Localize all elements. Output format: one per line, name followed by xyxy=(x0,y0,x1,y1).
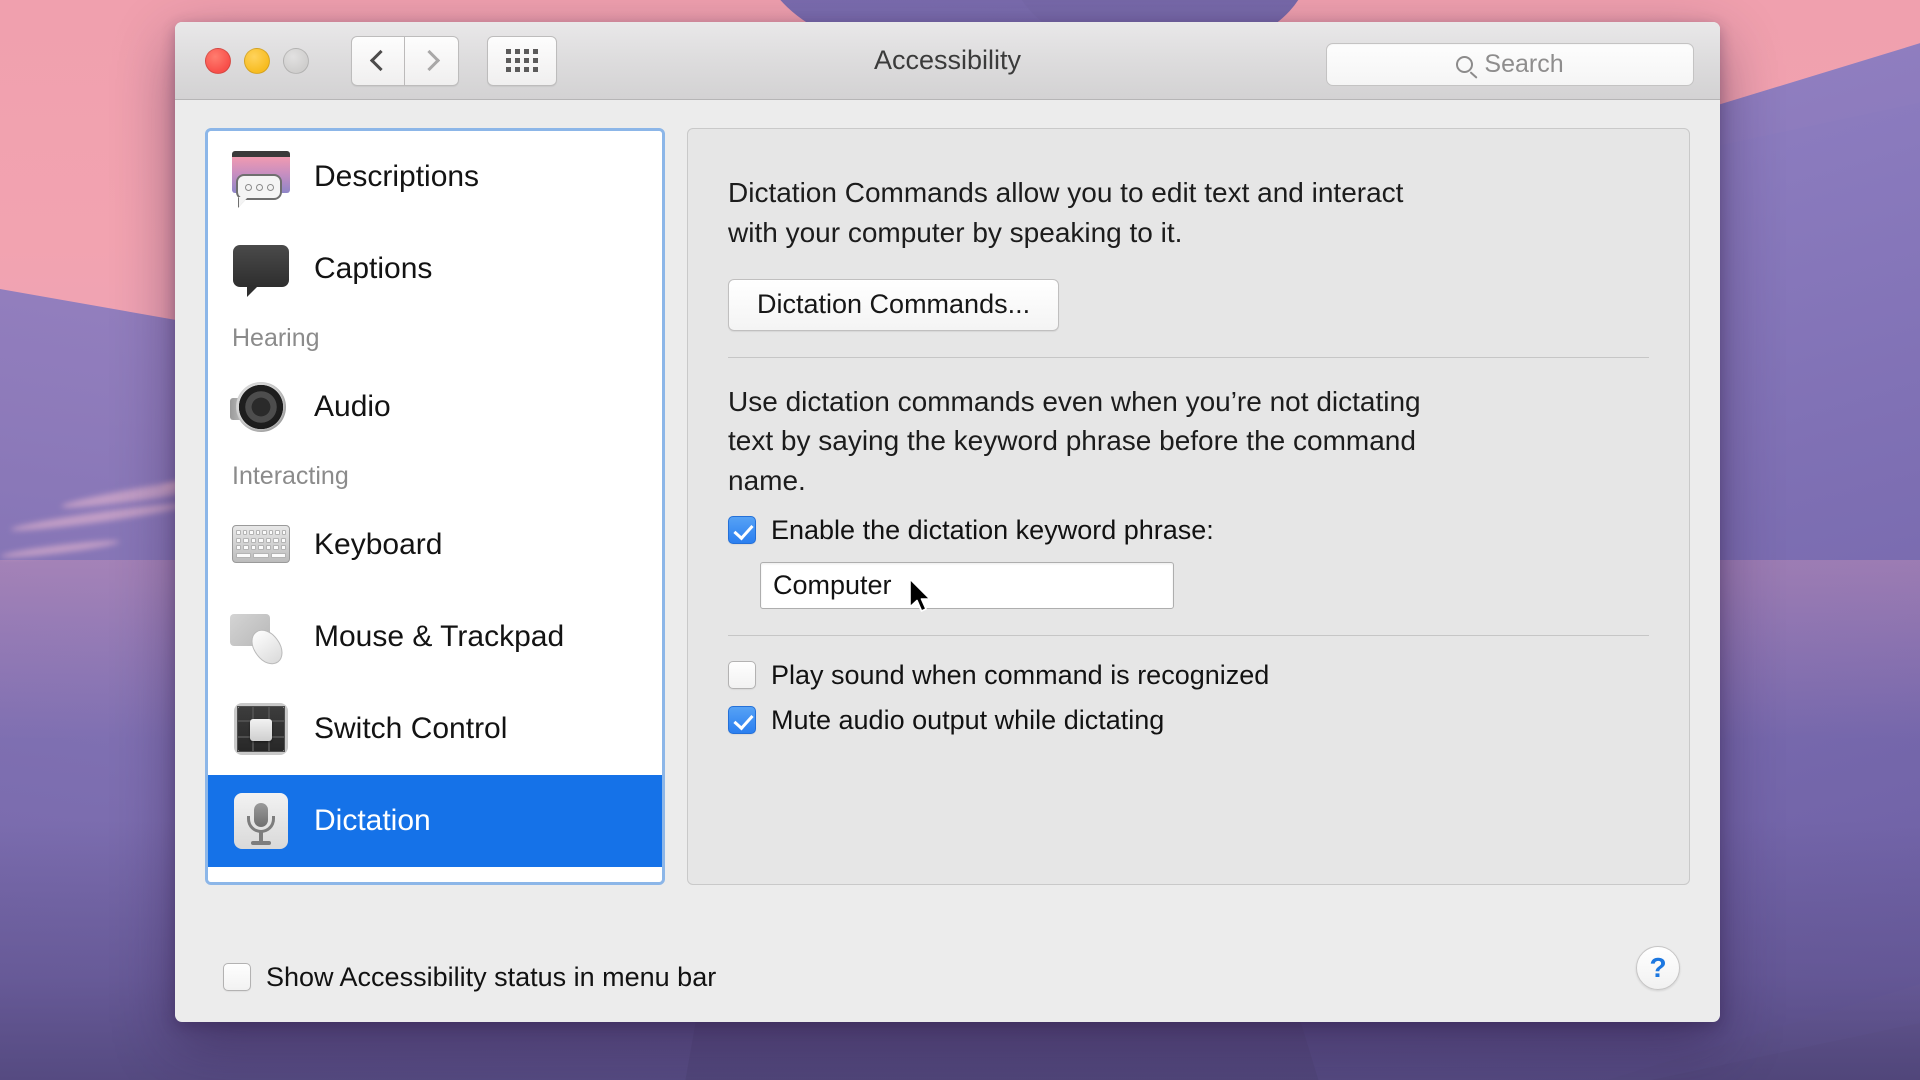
sidebar-section-hearing: Hearing xyxy=(208,315,662,361)
intro-paragraph: Dictation Commands allow you to edit tex… xyxy=(728,173,1458,253)
chevron-left-icon xyxy=(370,50,391,71)
back-button[interactable] xyxy=(351,36,405,86)
mouse-trackpad-icon xyxy=(230,608,292,666)
search-input[interactable]: Search xyxy=(1326,43,1694,86)
sidebar-item-label: Audio xyxy=(314,390,391,424)
sidebar-item-descriptions[interactable]: Descriptions xyxy=(208,131,662,223)
sidebar-item-keyboard[interactable]: Keyboard xyxy=(208,499,662,591)
dictation-settings-panel: Dictation Commands allow you to edit tex… xyxy=(687,128,1690,885)
close-button[interactable] xyxy=(205,48,231,74)
window-body: Descriptions Captions Hearing Audio xyxy=(175,100,1720,932)
keyword-paragraph: Use dictation commands even when you’re … xyxy=(728,382,1458,501)
forward-button[interactable] xyxy=(405,36,459,86)
sidebar-item-dictation[interactable]: Dictation xyxy=(208,775,662,867)
show-status-row[interactable]: Show Accessibility status in menu bar xyxy=(223,962,716,993)
system-preferences-window: Accessibility Search Descriptions xyxy=(175,22,1720,1022)
sidebar-section-interacting: Interacting xyxy=(208,453,662,499)
sidebar-item-captions[interactable]: Captions xyxy=(208,223,662,315)
enable-keyword-row[interactable]: Enable the dictation keyword phrase: xyxy=(728,515,1649,546)
keyword-phrase-value: Computer xyxy=(773,570,892,601)
section-divider-2 xyxy=(728,635,1649,636)
play-sound-row[interactable]: Play sound when command is recognized xyxy=(728,660,1649,691)
show-status-label: Show Accessibility status in menu bar xyxy=(266,962,716,993)
desktop-wallpaper: Accessibility Search Descriptions xyxy=(0,0,1920,1080)
zoom-button[interactable] xyxy=(283,48,309,74)
sidebar-item-label: Descriptions xyxy=(314,160,479,194)
audio-icon xyxy=(230,378,292,436)
window-titlebar: Accessibility Search xyxy=(175,22,1720,100)
window-footer: Show Accessibility status in menu bar ? xyxy=(175,932,1720,1022)
chevron-right-icon xyxy=(418,50,439,71)
sidebar-item-switch-control[interactable]: Switch Control xyxy=(208,683,662,775)
navigation-button-group xyxy=(351,36,459,86)
sidebar-item-audio[interactable]: Audio xyxy=(208,361,662,453)
play-sound-checkbox[interactable] xyxy=(728,661,756,689)
search-placeholder: Search xyxy=(1484,50,1563,79)
mute-audio-label: Mute audio output while dictating xyxy=(771,705,1164,736)
section-divider xyxy=(728,357,1649,358)
captions-icon xyxy=(230,240,292,298)
keyword-phrase-input[interactable]: Computer xyxy=(760,562,1174,609)
mute-audio-checkbox[interactable] xyxy=(728,706,756,734)
enable-keyword-label: Enable the dictation keyword phrase: xyxy=(771,515,1214,546)
show-all-button[interactable] xyxy=(487,36,557,86)
show-status-checkbox[interactable] xyxy=(223,963,251,991)
sidebar-item-mouse-trackpad[interactable]: Mouse & Trackpad xyxy=(208,591,662,683)
keyboard-icon xyxy=(230,516,292,574)
sidebar-item-label: Switch Control xyxy=(314,712,507,746)
grid-icon xyxy=(506,49,538,72)
sidebar-item-label: Keyboard xyxy=(314,528,442,562)
descriptions-icon xyxy=(230,148,292,206)
traffic-light-group xyxy=(205,48,309,74)
help-button[interactable]: ? xyxy=(1636,946,1680,990)
dictation-commands-button[interactable]: Dictation Commands... xyxy=(728,279,1059,331)
search-icon xyxy=(1456,56,1473,73)
minimize-button[interactable] xyxy=(244,48,270,74)
switch-control-icon xyxy=(230,700,292,758)
sidebar-item-label: Mouse & Trackpad xyxy=(314,620,564,654)
dictation-icon xyxy=(230,792,292,850)
enable-keyword-checkbox[interactable] xyxy=(728,516,756,544)
accessibility-feature-list: Descriptions Captions Hearing Audio xyxy=(205,128,665,885)
play-sound-label: Play sound when command is recognized xyxy=(771,660,1269,691)
sidebar-item-label: Dictation xyxy=(314,804,431,838)
sidebar-item-label: Captions xyxy=(314,252,432,286)
sidebar: Descriptions Captions Hearing Audio xyxy=(208,131,662,882)
mute-audio-row[interactable]: Mute audio output while dictating xyxy=(728,705,1649,736)
